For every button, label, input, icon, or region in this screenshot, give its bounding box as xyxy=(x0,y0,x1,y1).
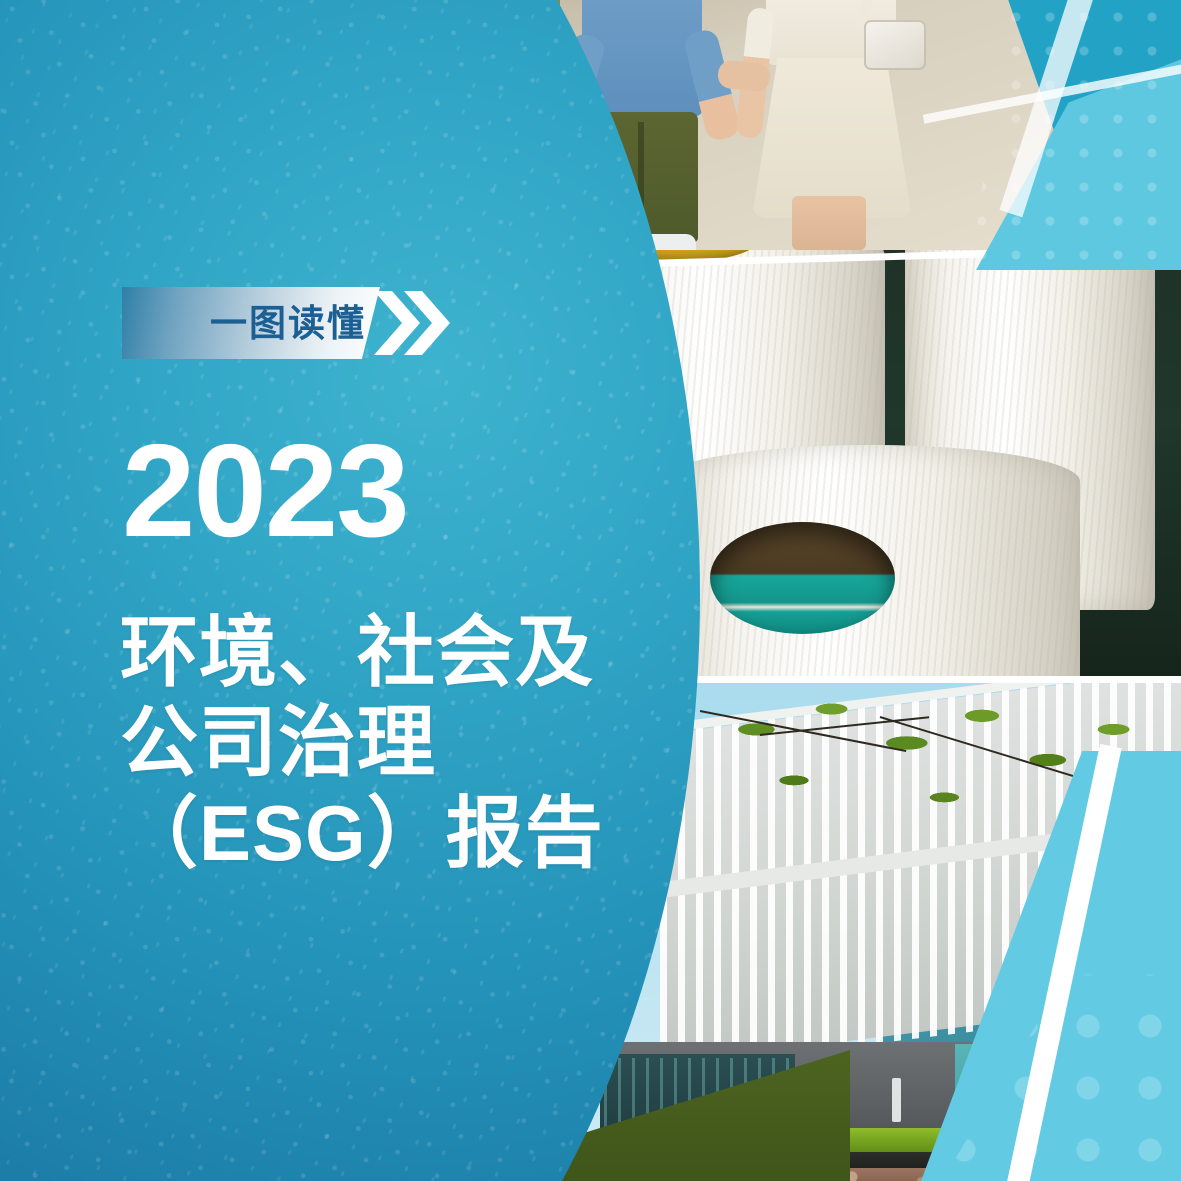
badge-band: 一图读懂 xyxy=(122,287,380,359)
badge-label: 一图读懂 xyxy=(210,305,366,342)
esg-report-poster: 一图读懂 2023 环境、社会及 公司治理 （ESG）报告 xyxy=(0,0,1181,1181)
facade-slot-window-2 xyxy=(892,1078,901,1122)
double-chevron-right-icon xyxy=(374,287,450,359)
page-title: 环境、社会及 公司治理 （ESG）报告 xyxy=(120,607,604,878)
spool-core-teal xyxy=(710,522,895,634)
report-year: 2023 xyxy=(122,425,408,557)
title-line-3: （ESG）报告 xyxy=(120,788,604,878)
poster-text-content: 一图读懂 2023 环境、社会及 公司治理 （ESG）报告 xyxy=(0,0,700,1181)
person-adult-right xyxy=(740,0,930,250)
read-at-a-glance-badge: 一图读懂 xyxy=(122,287,432,359)
title-line-1: 环境、社会及 xyxy=(120,607,604,697)
title-line-2: 公司治理 xyxy=(120,697,604,787)
